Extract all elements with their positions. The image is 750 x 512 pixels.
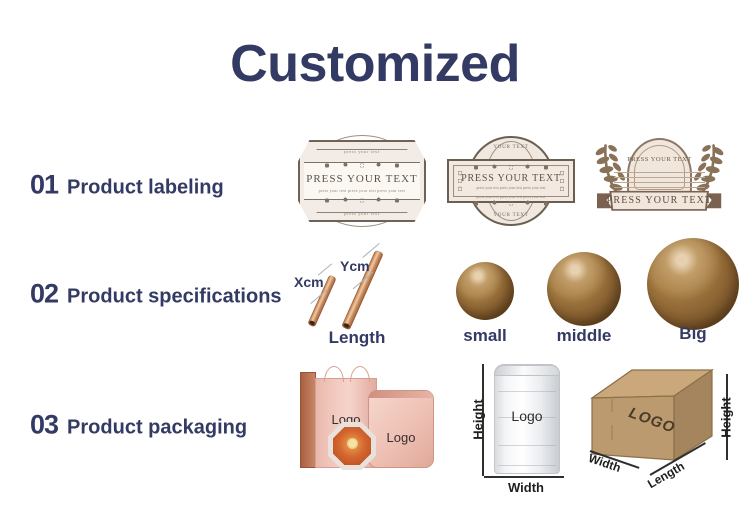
woven-sack-figure: Logo Height Width — [462, 356, 580, 492]
label-bottom-text: press your text — [298, 211, 426, 216]
sack-sealed-top — [494, 365, 560, 376]
crest-text-lines — [614, 172, 706, 192]
label-sub-text-2: press your text press your text press yo… — [447, 195, 575, 199]
sphere-big-caption: Big — [640, 324, 746, 344]
gift-bag-handle-right — [350, 366, 370, 382]
gift-bag-and-box: Logo Logo — [296, 360, 436, 488]
label-main-text: PRESS YOUR TEXT — [298, 173, 426, 185]
crest-text: PRESS YOUR TEXT — [592, 156, 727, 163]
row-number: 03 — [30, 409, 58, 440]
octagon-tin-emblem-icon — [347, 438, 358, 449]
rod-caption: Length — [292, 328, 422, 348]
circle-vintage-label: YOUR TEXT YOUR TEXT PRESS YOUR TEXT pres… — [447, 136, 575, 226]
gift-bag-side-panel — [300, 372, 316, 468]
ornament-bottom-icon — [316, 196, 408, 205]
sack-height-label: Height — [471, 390, 486, 450]
sack-width-dimension-line — [484, 476, 564, 478]
octagon-vintage-label: press your text PRESS YOUR TEXT press yo… — [298, 140, 426, 222]
label-sub-text: press your text press your text press yo… — [298, 188, 426, 193]
ornament-top-icon — [465, 163, 557, 172]
ribbon-text: PRESS YOUR TEXT — [592, 195, 727, 206]
sphere-big — [647, 238, 739, 330]
row-number: 02 — [30, 279, 58, 310]
row-product-labeling: 01 Product labeling press your text PRES… — [0, 132, 750, 237]
ornament-top-icon — [316, 161, 408, 170]
sack-fold-line — [498, 465, 557, 466]
rod-length-figure: Xcm Ycm Length — [292, 238, 422, 350]
row-product-specifications: 02 Product specifications Xcm Ycm Length… — [0, 238, 750, 350]
row-product-packaging: 03 Product packaging Logo Logo Logo Heig… — [0, 352, 750, 497]
label-bottom-text: YOUR TEXT — [447, 213, 575, 218]
rod-short-label: Xcm — [294, 274, 324, 290]
label-main-text: PRESS YOUR TEXT — [447, 173, 575, 184]
row-label-01: 01 Product labeling — [30, 169, 224, 200]
row-title: Product specifications — [67, 286, 282, 309]
sphere-small-figure: small — [448, 256, 522, 350]
sphere-middle — [547, 252, 621, 326]
sack-fold-line — [498, 391, 557, 392]
label-top-text: YOUR TEXT — [447, 145, 575, 150]
label-sub-text-1: press your text press your text press yo… — [447, 186, 575, 190]
page-title: Customized — [0, 34, 750, 94]
label-top-text: press your text — [298, 149, 426, 154]
row-title: Product labeling — [67, 176, 224, 199]
sack-logo-text: Logo — [494, 408, 560, 424]
carton-height-label: Height — [719, 388, 734, 448]
sphere-big-figure: Big — [640, 238, 746, 350]
rod-end-icon — [307, 319, 316, 327]
sack-width-label: Width — [496, 480, 556, 495]
row-label-02: 02 Product specifications — [30, 279, 282, 310]
row-title: Product packaging — [67, 416, 247, 439]
row-label-03: 03 Product packaging — [30, 409, 247, 440]
ornament-bottom-icon — [465, 199, 557, 208]
octagon-tin — [328, 422, 376, 470]
laurel-crest-label: PRESS YOUR TEXT PRESS YOUR TEXT — [592, 136, 727, 226]
pink-box-lid — [369, 391, 433, 398]
sack-fold-line — [498, 445, 557, 446]
pink-gift-box — [368, 390, 434, 468]
sphere-small — [456, 262, 514, 320]
sphere-middle-figure: middle — [538, 248, 630, 350]
pink-box-logo-text: Logo — [368, 430, 434, 445]
carton-box-figure: LOGO Height Width Length — [584, 356, 746, 492]
row-number: 01 — [30, 169, 58, 200]
sphere-small-caption: small — [448, 326, 522, 346]
sphere-middle-caption: middle — [538, 326, 630, 346]
gift-bag-handle-left — [324, 366, 344, 382]
rod-long-label: Ycm — [340, 258, 370, 274]
